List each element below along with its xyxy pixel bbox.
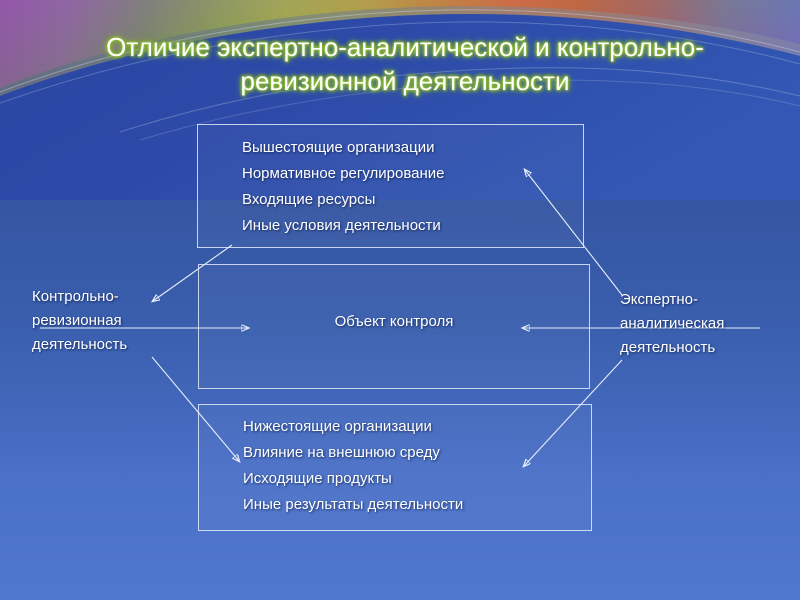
object-of-control-box: Объект контроля [198, 264, 590, 389]
expert-analytical-activity-label: Экспертно- аналитическая деятельность [620, 288, 795, 360]
object-of-control-label: Объект контроля [199, 313, 589, 330]
page-title: Отличие экспертно-аналитической и контро… [60, 30, 750, 98]
control-audit-activity-label: Контрольно- ревизионная деятельность [32, 285, 182, 357]
slide-canvas: Отличие экспертно-аналитической и контро… [0, 0, 800, 600]
outputs-box-text: Нижестоящие организации Влияние на внешн… [243, 414, 463, 518]
outputs-box: Нижестоящие организации Влияние на внешн… [198, 404, 592, 531]
inputs-box-text: Вышестоящие организации Нормативное регу… [242, 135, 445, 239]
inputs-box: Вышестоящие организации Нормативное регу… [197, 124, 584, 248]
